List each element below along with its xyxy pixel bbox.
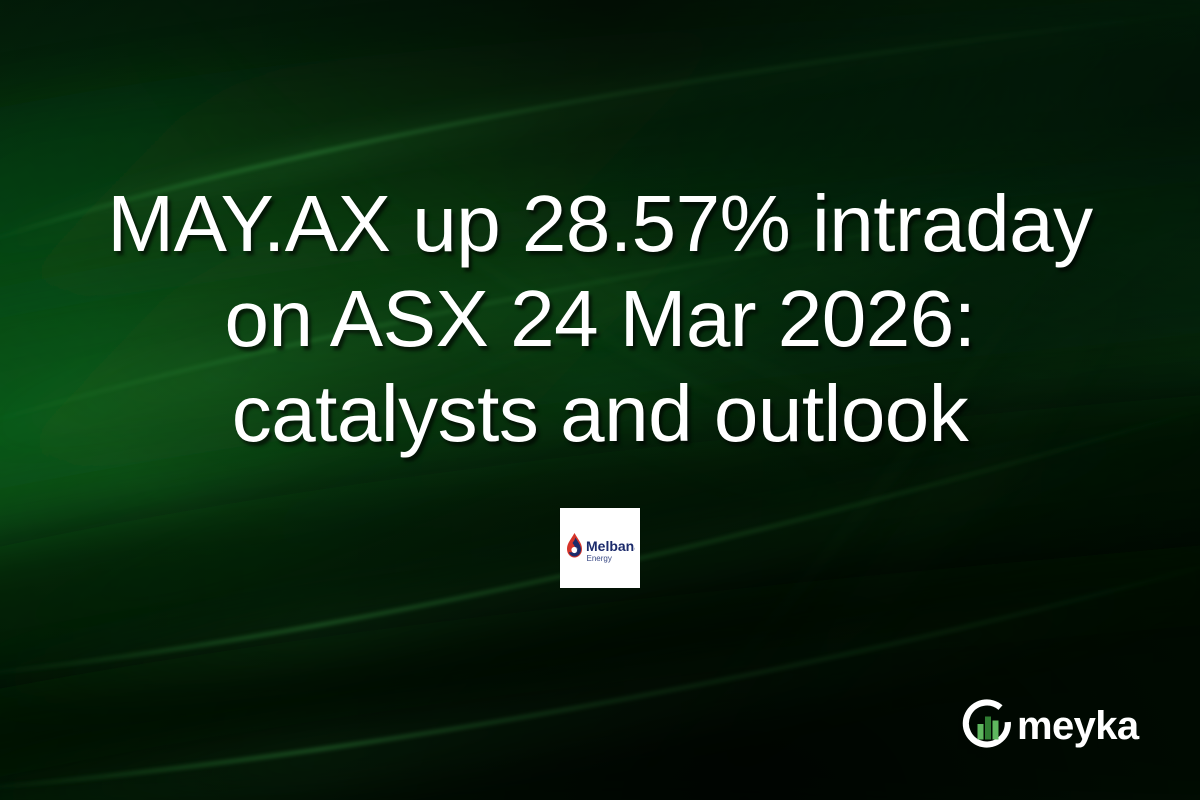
meyka-wordmark: meyka: [1017, 706, 1139, 746]
headline: MAY.AX up 28.57% intraday on ASX 24 Mar …: [0, 176, 1200, 461]
company-logo: Melbana Energy: [560, 508, 640, 588]
bar-3: [993, 721, 999, 740]
melbana-energy-logo-icon: Melbana Energy: [565, 531, 635, 565]
article-share-card: MAY.AX up 28.57% intraday on ASX 24 Mar …: [0, 0, 1200, 800]
headline-line-1: MAY.AX up 28.57% intraday: [0, 176, 1200, 271]
bar-1: [978, 724, 984, 740]
company-logo-secondary-text: Energy: [587, 554, 612, 563]
headline-line-3: catalysts and outlook: [0, 366, 1200, 461]
bar-2: [985, 717, 991, 740]
headline-line-2: on ASX 24 Mar 2026:: [0, 271, 1200, 366]
meyka-brand[interactable]: meyka: [958, 694, 1145, 756]
company-logo-primary-text: Melbana: [586, 538, 635, 554]
meyka-circle-barchart-icon: [958, 696, 1016, 754]
melbana-flame-droplet-icon: [567, 533, 582, 558]
